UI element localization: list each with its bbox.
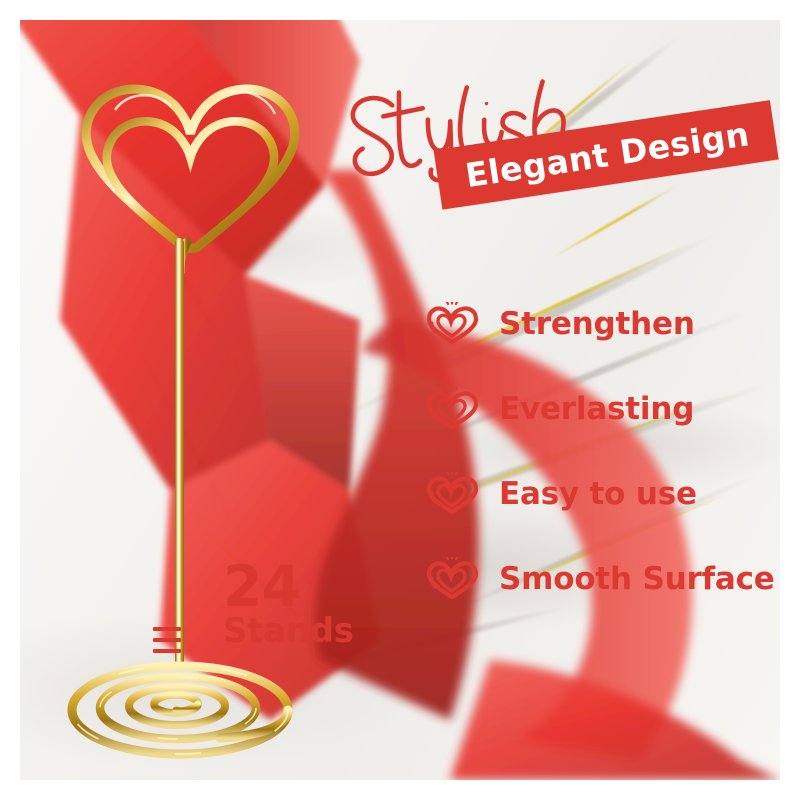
- feature-label: Strengthen: [499, 306, 695, 342]
- feature-list: Strengthen Everlasting: [425, 292, 780, 632]
- image-frame: Elegant Design Strengthen: [20, 20, 780, 780]
- double-heart-icon: [425, 387, 481, 431]
- double-heart-icon: [425, 302, 481, 346]
- feature-label: Easy to use: [499, 476, 697, 512]
- feature-label: Everlasting: [499, 391, 694, 427]
- double-heart-icon: [425, 557, 481, 601]
- feature-label: Smooth Surface: [499, 561, 775, 597]
- feature-item: Strengthen: [425, 292, 780, 356]
- feature-item: Easy to use: [425, 462, 780, 526]
- feature-item: Smooth Surface: [425, 547, 780, 611]
- count-badge: 24 Stands: [223, 560, 354, 650]
- feature-item: Everlasting: [425, 377, 780, 441]
- count-unit: Stands: [223, 614, 354, 650]
- double-heart-icon: [425, 472, 481, 516]
- count-number: 24: [223, 560, 354, 614]
- hamburger-lines-icon: [153, 627, 181, 660]
- product-marketing-image: Elegant Design Strengthen: [0, 0, 800, 800]
